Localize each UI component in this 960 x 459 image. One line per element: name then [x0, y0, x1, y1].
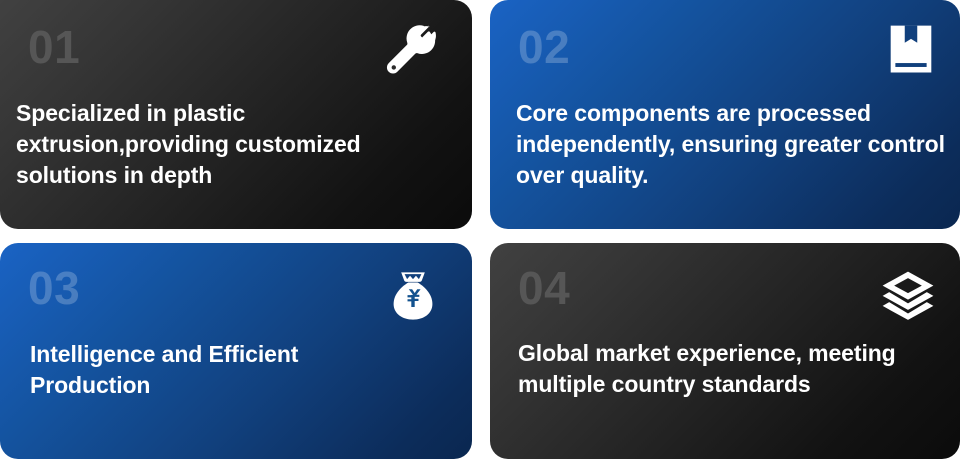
card-title-02: Core components are processed independen…	[516, 98, 950, 190]
card-title-04: Global market experience, meeting multip…	[518, 338, 908, 400]
card-number-01: 01	[28, 24, 80, 70]
feature-card-03[interactable]: 03 Intelligence and Efficient Production	[0, 243, 472, 459]
money-bag-yen-icon	[386, 269, 440, 323]
card-number-04: 04	[518, 265, 570, 311]
feature-card-02[interactable]: 02 Core components are processed indepen…	[490, 0, 960, 229]
feature-card-04[interactable]: 04 Global market experience, meeting mul…	[490, 243, 960, 459]
card-number-02: 02	[518, 24, 570, 70]
card-number-03: 03	[28, 265, 80, 311]
card-title-01: Specialized in plastic extrusion,providi…	[16, 98, 436, 190]
book-bookmark-icon	[886, 24, 936, 74]
card-title-03: Intelligence and Efficient Production	[30, 339, 412, 401]
layers-stack-icon	[880, 269, 936, 325]
wrench-icon	[384, 24, 438, 78]
feature-card-01[interactable]: 01 Specialized in plastic extrusion,prov…	[0, 0, 472, 229]
feature-card-grid: 01 Specialized in plastic extrusion,prov…	[0, 0, 960, 459]
